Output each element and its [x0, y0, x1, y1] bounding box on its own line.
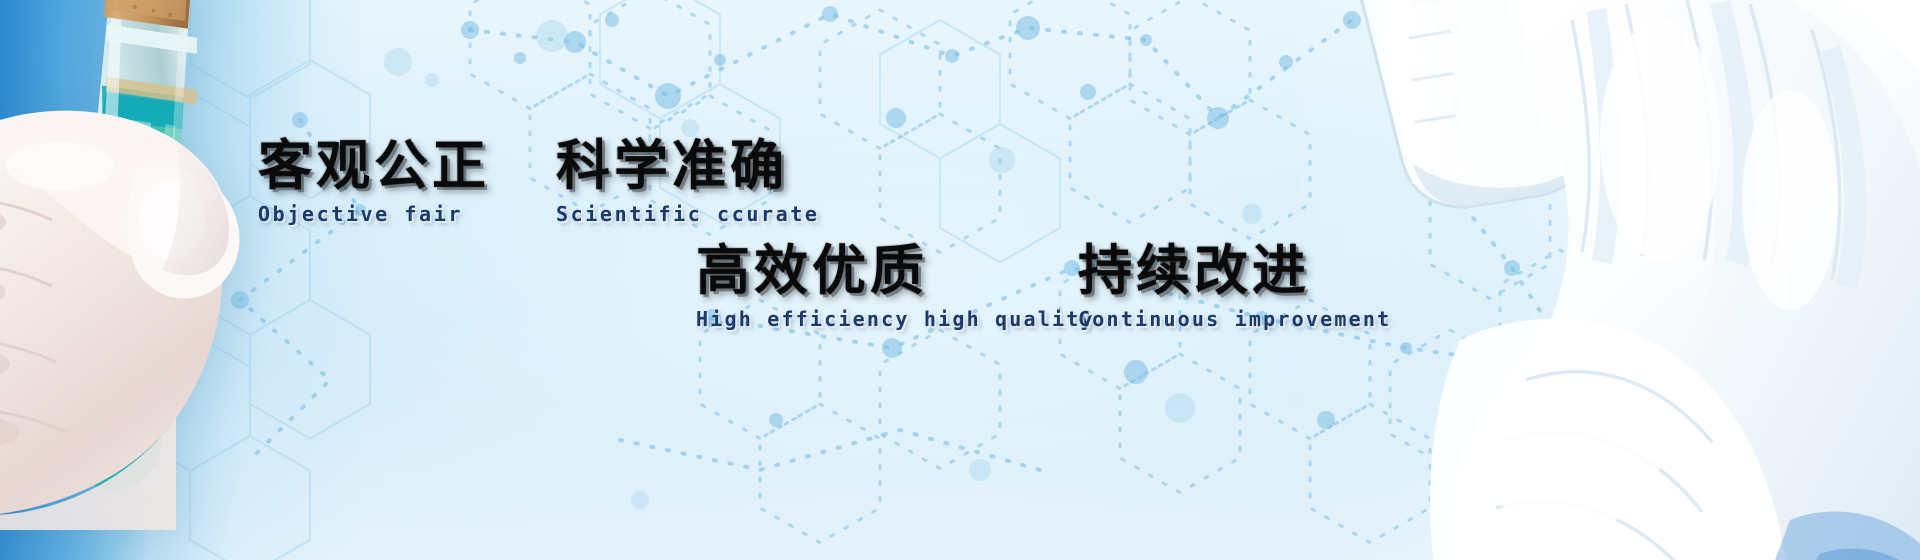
slogan-block-4: 持续改进 Continuous improvement [1078, 243, 1391, 331]
slogan-block-3: 高效优质 High efficiency high quality [696, 243, 1095, 331]
slogan-headline-cn-3: 高效优质 [696, 243, 1095, 300]
slogan-subtitle-en-3: High efficiency high quality [696, 307, 1095, 331]
slogan-block-2: 科学准确 Scientific ccurate [556, 138, 820, 226]
slogan-headline-cn-2: 科学准确 [556, 138, 820, 195]
lab-quality-banner: 客观公正 Objective fair 科学准确 Scientific ccur… [0, 0, 1920, 560]
slogan-headline-cn-1: 客观公正 [258, 138, 490, 195]
slogan-headline-cn-4: 持续改进 [1078, 243, 1391, 300]
slogan-subtitle-en-2: Scientific ccurate [556, 202, 820, 226]
slogan-subtitle-en-4: Continuous improvement [1078, 307, 1391, 331]
slogan-block-1: 客观公正 Objective fair [258, 138, 490, 226]
beaker-and-lab-coat-image [1320, 0, 1920, 560]
gloved-hand-test-tube-image [0, 0, 460, 560]
slogan-subtitle-en-1: Objective fair [258, 202, 490, 226]
